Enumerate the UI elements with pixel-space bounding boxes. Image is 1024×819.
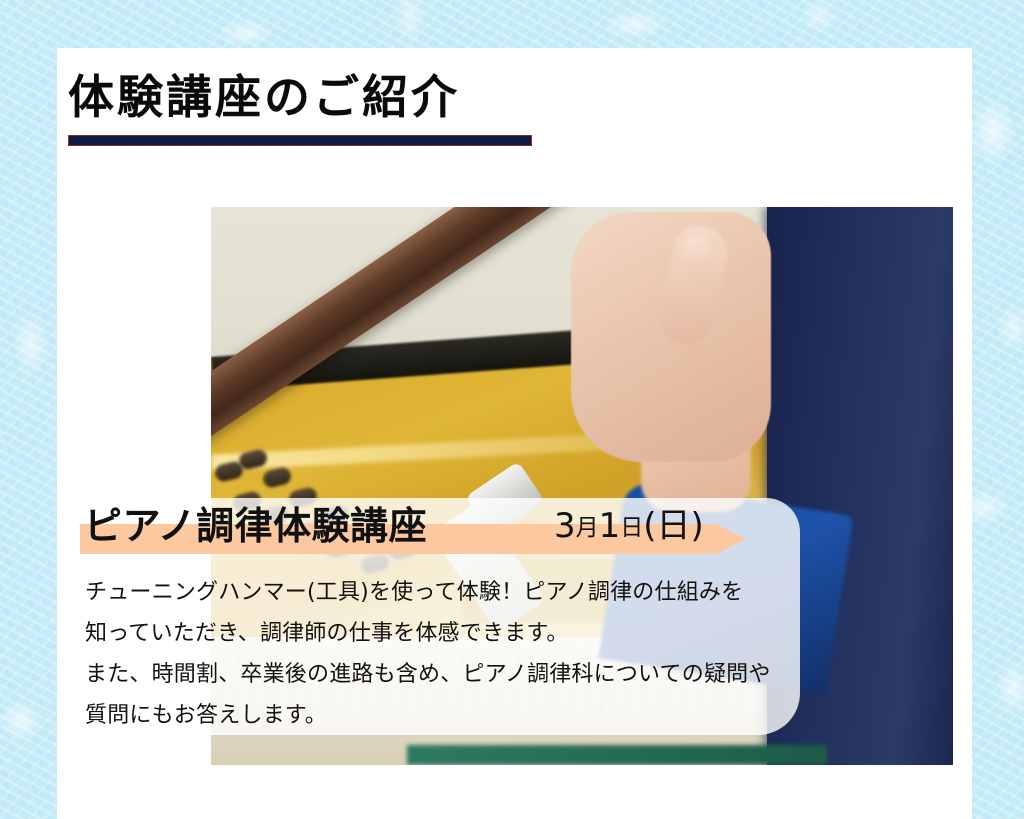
- title-underline-rule: [68, 135, 532, 146]
- page-title: 体験講座のご紹介: [68, 72, 538, 124]
- description-line: チューニングハンマー(工具)を使って体験！ピアノ調律の仕組みを: [85, 572, 805, 613]
- date-month-unit: 月: [576, 515, 599, 541]
- caption-row: ピアノ調律体験講座 3月1日(日): [84, 500, 764, 552]
- date-day-number: 1: [599, 506, 621, 546]
- date-month-number: 3: [554, 506, 576, 546]
- course-description: チューニングハンマー(工具)を使って体験！ピアノ調律の仕組みを 知っていただき、…: [85, 572, 805, 736]
- photo-green-floor: [407, 745, 827, 765]
- course-date: 3月1日(日): [554, 500, 704, 554]
- date-day-unit: 日: [620, 515, 643, 541]
- course-title: ピアノ調律体験講座: [84, 500, 427, 552]
- description-line: 質問にもお答えします。: [85, 695, 805, 736]
- description-line: 知っていただき、調律師の仕事を体感できます。: [85, 613, 805, 654]
- description-line: また、時間割、卒業後の進路も含め、ピアノ調律科についての疑問や: [85, 654, 805, 695]
- date-weekday: (日): [643, 506, 704, 546]
- page-title-block: 体験講座のご紹介: [68, 72, 538, 146]
